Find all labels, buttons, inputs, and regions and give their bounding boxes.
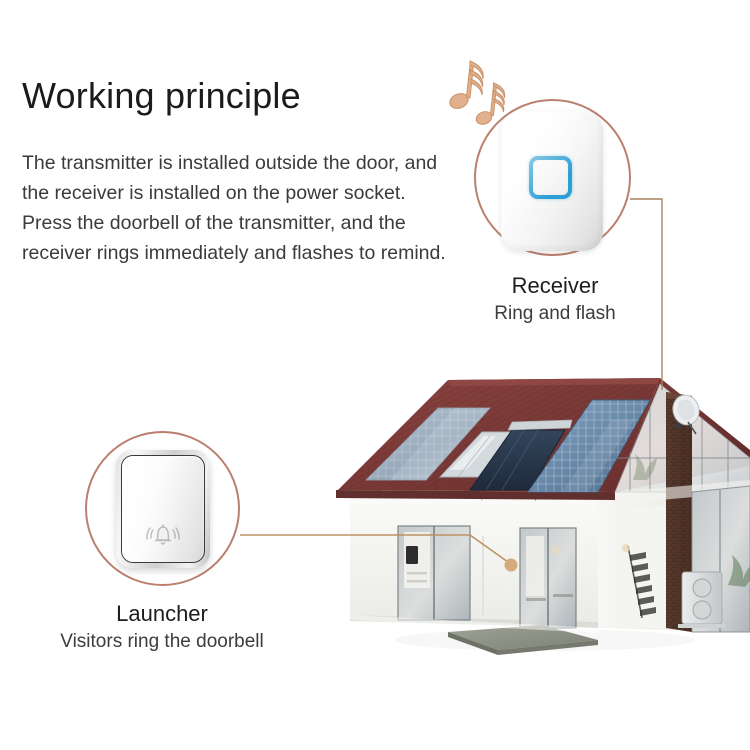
heat-pump-unit xyxy=(678,572,726,628)
square-indicator-icon xyxy=(529,156,572,199)
interior-right xyxy=(616,506,666,628)
front-sliding-door xyxy=(520,528,576,628)
launcher-face[interactable] xyxy=(121,455,205,563)
receiver-label-title: Receiver xyxy=(430,273,680,299)
description-paragraph: The transmitter is installed outside the… xyxy=(22,148,452,268)
house-illustration xyxy=(330,340,750,670)
music-notes-icon xyxy=(442,56,522,132)
page-title: Working principle xyxy=(22,76,301,116)
working-principle-infographic: Working principle The transmitter is ins… xyxy=(0,0,750,750)
bell-icon xyxy=(146,521,180,549)
launcher-label-subtitle: Visitors ring the doorbell xyxy=(37,631,287,653)
launcher-label-title: Launcher xyxy=(37,601,287,627)
receiver-label-subtitle: Ring and flash xyxy=(430,303,680,325)
left-sliding-door xyxy=(398,526,470,620)
launcher-device[interactable] xyxy=(116,450,210,568)
receiver-device[interactable] xyxy=(501,111,603,251)
